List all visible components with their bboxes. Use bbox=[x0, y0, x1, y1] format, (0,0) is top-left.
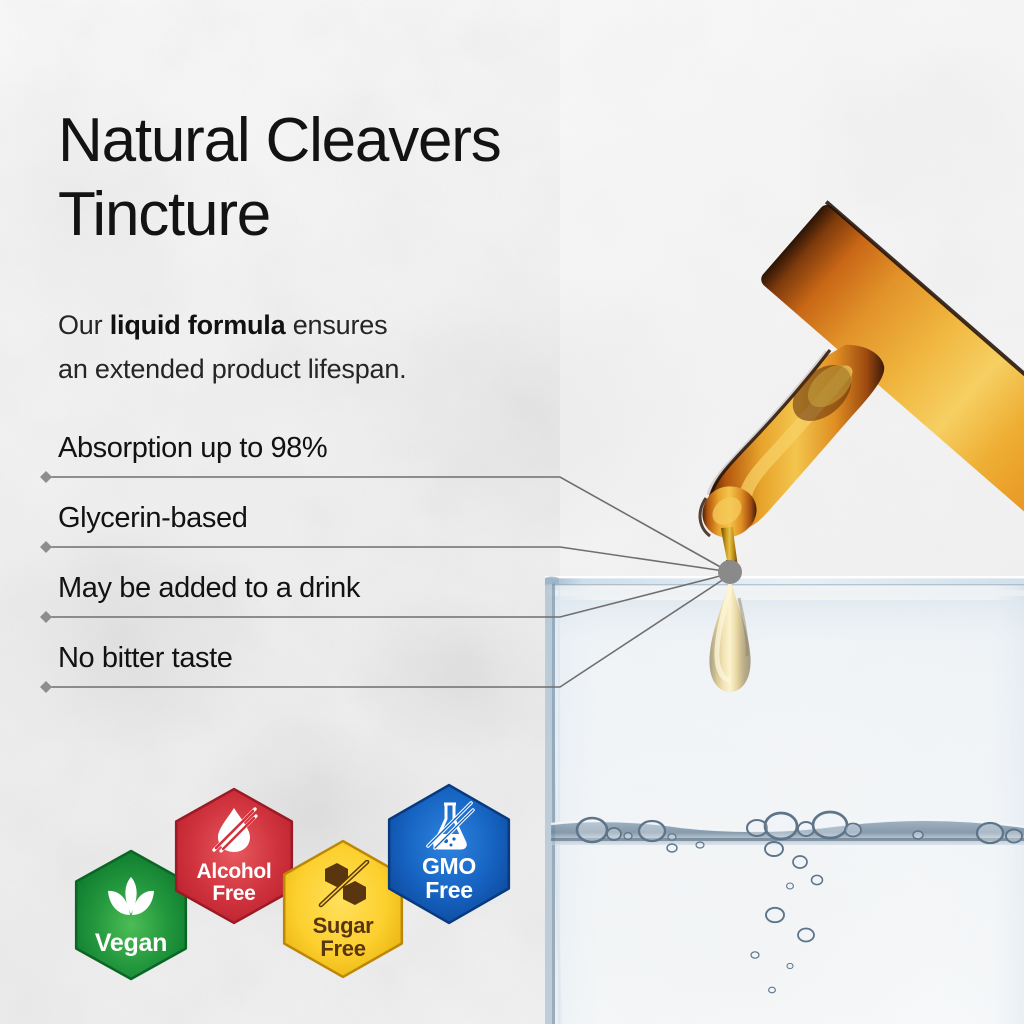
title-line-2: Tincture bbox=[58, 180, 270, 249]
subtitle-prefix: Our bbox=[58, 310, 110, 340]
subtitle-emphasis: liquid formula bbox=[110, 310, 286, 340]
badge-gmo-free: GMO Free bbox=[383, 782, 515, 926]
subtitle: Our liquid formula ensures an extended p… bbox=[58, 303, 618, 391]
diamond-marker bbox=[40, 471, 52, 693]
flask-slash-icon bbox=[423, 800, 475, 850]
feature-label-no-bitter-taste: No bitter taste bbox=[58, 642, 233, 675]
convergence-hub bbox=[718, 560, 742, 584]
subtitle-suffix: ensures bbox=[285, 310, 387, 340]
feature-label-glycerin: Glycerin-based bbox=[58, 502, 247, 535]
page-title: Natural Cleavers Tincture bbox=[58, 104, 758, 252]
feature-label-add-to-drink: May be added to a drink bbox=[58, 572, 360, 605]
feature-label-absorption: Absorption up to 98% bbox=[58, 432, 327, 465]
leaf-icon bbox=[105, 874, 157, 922]
product-infographic: Natural Cleavers Tincture Our liquid for… bbox=[0, 0, 1024, 1024]
droplet-slash-icon bbox=[208, 806, 260, 854]
title-line-1: Natural Cleavers bbox=[58, 106, 501, 175]
subtitle-line-2: an extended product lifespan. bbox=[58, 354, 406, 384]
sugar-cubes-slash-icon bbox=[315, 860, 371, 908]
